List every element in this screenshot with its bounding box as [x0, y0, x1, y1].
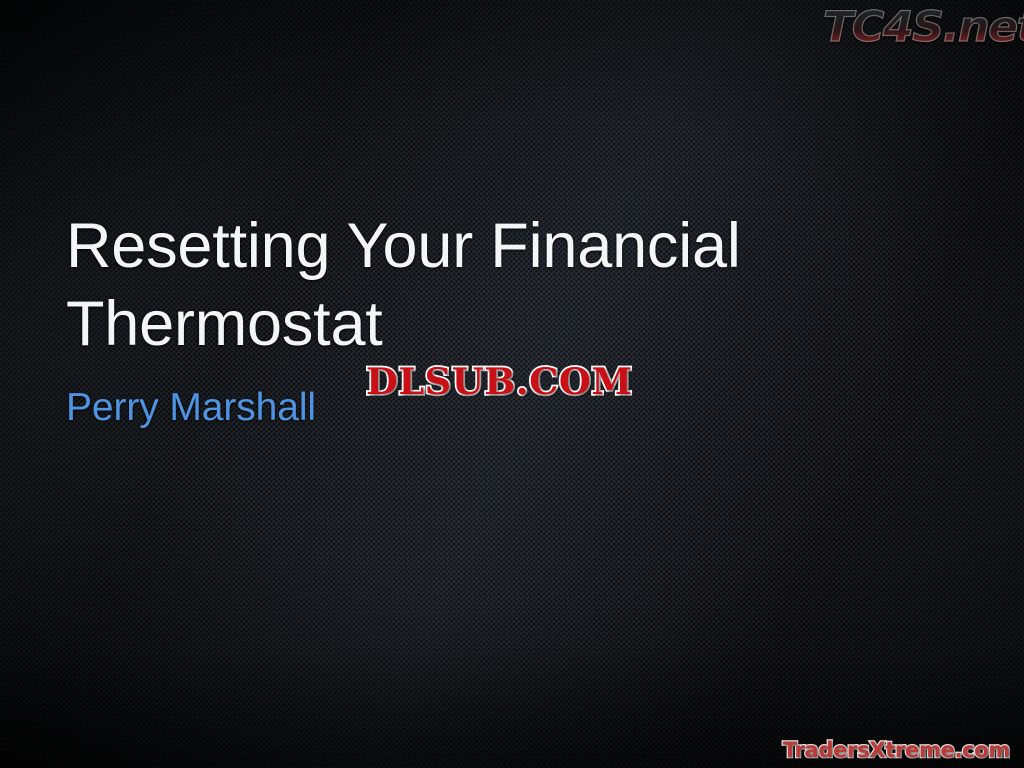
watermark-dlsub: DLSUB.COM — [366, 361, 632, 403]
title-block: Resetting Your Financial Thermostat — [66, 207, 946, 363]
presentation-slide: Resetting Your Financial Thermostat Perr… — [0, 0, 1024, 768]
slide-subtitle-author: Perry Marshall — [66, 385, 316, 431]
watermark-tradersxtreme: TradersXtreme.com — [783, 738, 1010, 762]
page-title: Resetting Your Financial Thermostat — [66, 207, 946, 363]
watermark-tc4s: TC4S.net — [823, 2, 1024, 51]
